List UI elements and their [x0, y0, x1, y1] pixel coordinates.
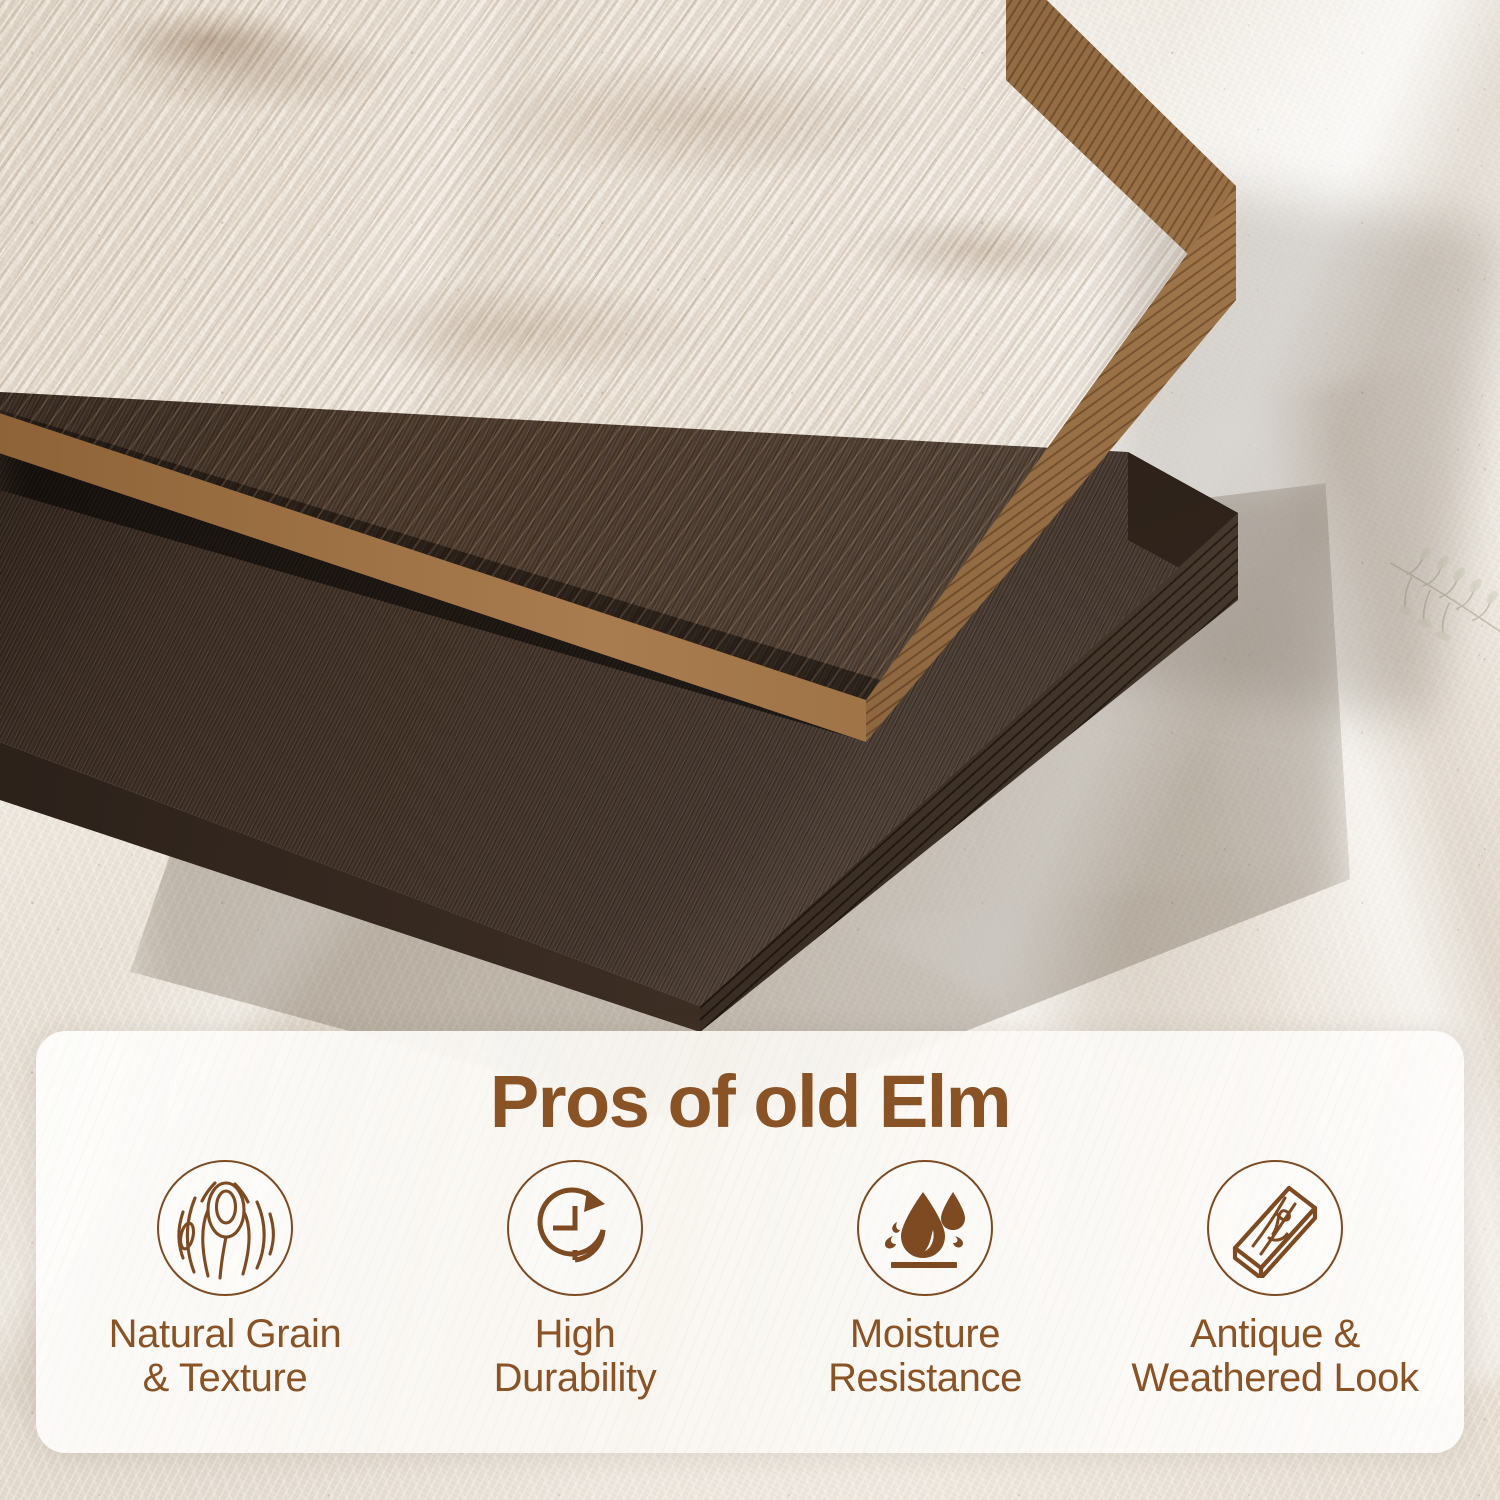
feature-natural-grain[interactable]: Natural Grain & Texture — [50, 1160, 400, 1400]
feature-list: Natural Grain & Texture High Durability — [36, 1160, 1464, 1400]
feature-moisture-resistance[interactable]: Moisture Resistance — [750, 1160, 1100, 1400]
feature-label: High Durability — [494, 1312, 657, 1400]
feature-antique-weathered[interactable]: Antique & Weathered Look — [1100, 1160, 1450, 1400]
pros-info-card: Pros of old Elm — [36, 1031, 1464, 1453]
feature-high-durability[interactable]: High Durability — [400, 1160, 750, 1400]
clock-refresh-icon — [507, 1160, 643, 1296]
card-title: Pros of old Elm — [36, 1059, 1464, 1144]
feature-label: Antique & Weathered Look — [1131, 1312, 1418, 1400]
feature-label: Moisture Resistance — [828, 1312, 1022, 1400]
wood-plank-icon — [1207, 1160, 1343, 1296]
feature-label: Natural Grain & Texture — [109, 1312, 342, 1400]
water-droplet-icon — [857, 1160, 993, 1296]
wood-grain-icon — [157, 1160, 293, 1296]
